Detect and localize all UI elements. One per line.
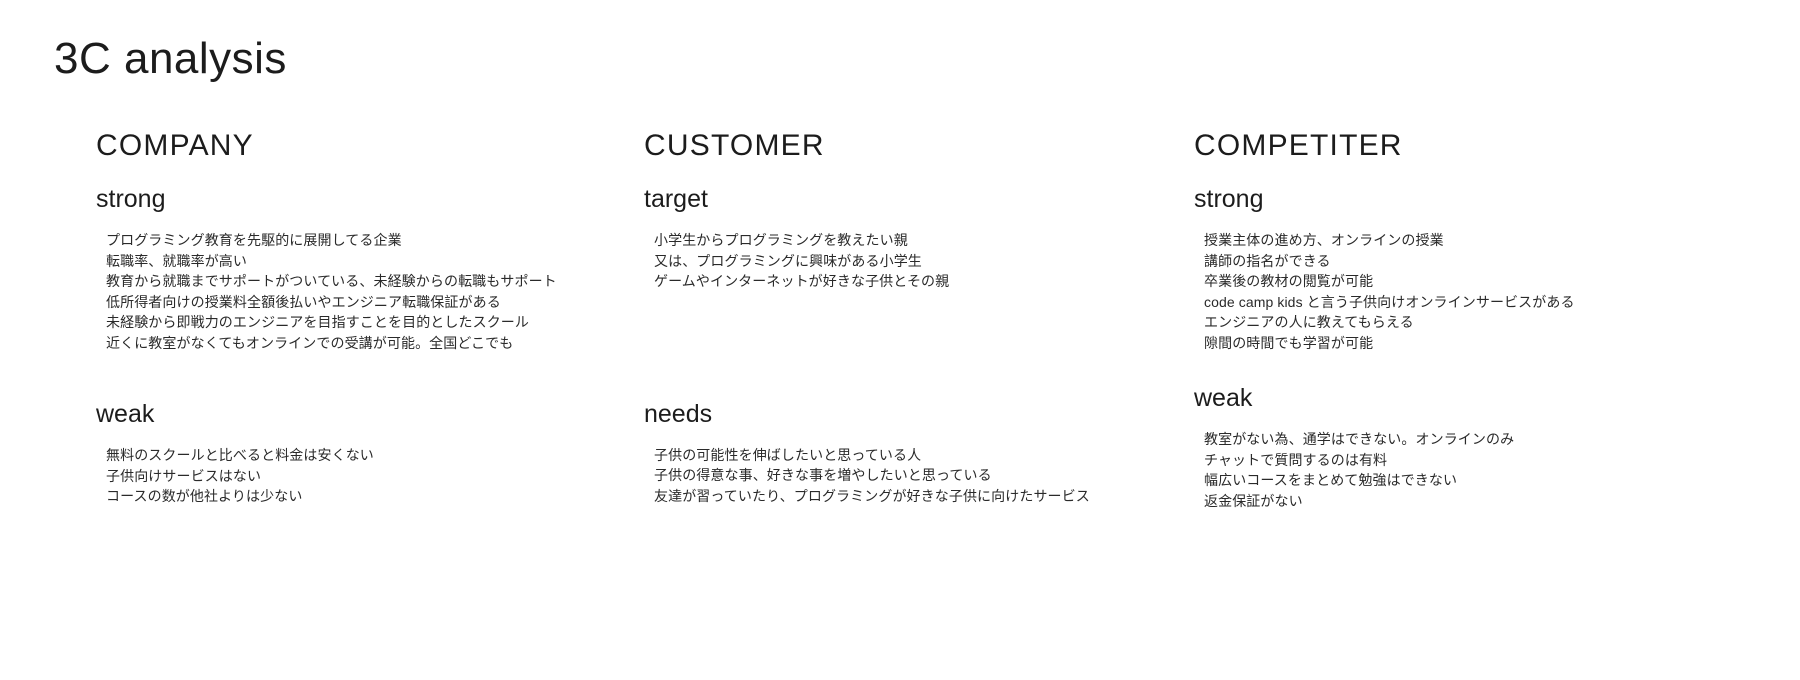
slide-canvas: 3C analysis COMPANY strong プログラミング教育を先駆的…: [0, 0, 1800, 680]
list-competiter-weak: 教室がない為、通学はできない。オンラインのみ チャットで質問するのは有料 幅広い…: [1194, 429, 1800, 511]
list-competiter-strong: 授業主体の進め方、オンラインの授業 講師の指名ができる 卒業後の教材の閲覧が可能…: [1194, 230, 1800, 353]
list-item: 幅広いコースをまとめて勉強はできない: [1204, 470, 1800, 491]
list-item: 転職率、就職率が高い: [106, 251, 560, 272]
list-customer-needs: 子供の可能性を伸ばしたいと思っている人 子供の得意な事、好きな事を増やしたいと思…: [644, 445, 1120, 507]
list-item: エンジニアの人に教えてもらえる: [1204, 312, 1800, 333]
section-title-customer-target: target: [644, 184, 1120, 214]
section-title-competiter-weak: weak: [1194, 383, 1800, 413]
list-item: 教室がない為、通学はできない。オンラインのみ: [1204, 429, 1800, 450]
list-company-weak: 無料のスクールと比べると料金は安くない 子供向けサービスはない コースの数が他社…: [96, 445, 560, 507]
list-item: 返金保証がない: [1204, 491, 1800, 512]
section-company-weak: weak 無料のスクールと比べると料金は安くない 子供向けサービスはない コース…: [96, 399, 560, 507]
section-company-strong: strong プログラミング教育を先駆的に展開してる企業 転職率、就職率が高い …: [96, 184, 560, 353]
list-company-strong: プログラミング教育を先駆的に展開してる企業 転職率、就職率が高い 教育から就職ま…: [96, 230, 560, 353]
list-item: ゲームやインターネットが好きな子供とその親: [654, 271, 1120, 292]
list-customer-target: 小学生からプログラミングを教えたい親 又は、プログラミングに興味がある小学生 ゲ…: [644, 230, 1120, 292]
list-item: 友達が習っていたり、プログラミングが好きな子供に向けたサービス: [654, 486, 1120, 507]
list-item: 子供向けサービスはない: [106, 466, 560, 487]
list-item: チャットで質問するのは有料: [1204, 450, 1800, 471]
list-item: 小学生からプログラミングを教えたい親: [654, 230, 1120, 251]
list-item: 卒業後の教材の閲覧が可能: [1204, 271, 1800, 292]
column-title-competiter: COMPETITER: [1194, 128, 1800, 164]
list-item: 隙間の時間でも学習が可能: [1204, 333, 1800, 354]
list-item: code camp kids と言う子供向けオンラインサービスがある: [1204, 292, 1800, 313]
section-title-company-weak: weak: [96, 399, 560, 429]
list-item: 授業主体の進め方、オンラインの授業: [1204, 230, 1800, 251]
section-title-company-strong: strong: [96, 184, 560, 214]
section-title-customer-needs: needs: [644, 399, 1120, 429]
list-item: 又は、プログラミングに興味がある小学生: [654, 251, 1120, 272]
list-item: 未経験から即戦力のエンジニアを目指すことを目的としたスクール: [106, 312, 560, 333]
section-customer-target: target 小学生からプログラミングを教えたい親 又は、プログラミングに興味が…: [644, 184, 1120, 292]
page-title: 3C analysis: [54, 34, 287, 85]
list-item: 教育から就職までサポートがついている、未経験からの転職もサポート: [106, 271, 560, 292]
column-customer: CUSTOMER target 小学生からプログラミングを教えたい親 又は、プロ…: [560, 128, 1120, 506]
list-item: 低所得者向けの授業料全額後払いやエンジニア転職保証がある: [106, 292, 560, 313]
list-item: 子供の可能性を伸ばしたいと思っている人: [654, 445, 1120, 466]
three-c-columns: COMPANY strong プログラミング教育を先駆的に展開してる企業 転職率…: [0, 128, 1800, 511]
list-item: 講師の指名ができる: [1204, 251, 1800, 272]
column-title-customer: CUSTOMER: [644, 128, 1120, 164]
list-item: 子供の得意な事、好きな事を増やしたいと思っている: [654, 465, 1120, 486]
section-customer-needs: needs 子供の可能性を伸ばしたいと思っている人 子供の得意な事、好きな事を増…: [644, 399, 1120, 507]
list-item: コースの数が他社よりは少ない: [106, 486, 560, 507]
column-company: COMPANY strong プログラミング教育を先駆的に展開してる企業 転職率…: [0, 128, 560, 507]
list-item: プログラミング教育を先駆的に展開してる企業: [106, 230, 560, 251]
section-title-competiter-strong: strong: [1194, 184, 1800, 214]
column-competiter: COMPETITER strong 授業主体の進め方、オンラインの授業 講師の指…: [1120, 128, 1800, 511]
section-competiter-weak: weak 教室がない為、通学はできない。オンラインのみ チャットで質問するのは有…: [1194, 383, 1800, 511]
list-item: 無料のスクールと比べると料金は安くない: [106, 445, 560, 466]
list-item: 近くに教室がなくてもオンラインでの受講が可能。全国どこでも: [106, 333, 560, 354]
column-title-company: COMPANY: [96, 128, 560, 164]
section-competiter-strong: strong 授業主体の進め方、オンラインの授業 講師の指名ができる 卒業後の教…: [1194, 184, 1800, 353]
